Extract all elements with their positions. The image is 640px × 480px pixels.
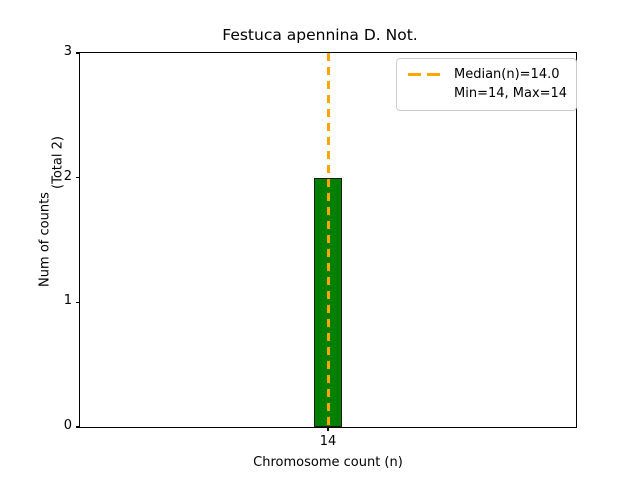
- y-tick-label: 0: [64, 418, 72, 433]
- y-tick-mark: [76, 52, 80, 53]
- legend-entry: Min=14, Max=14: [406, 84, 567, 103]
- legend-dash-segment: [408, 73, 421, 76]
- x-tick-mark: [327, 427, 328, 431]
- legend-label: Min=14, Max=14: [454, 86, 567, 101]
- legend-dash-sample: [406, 68, 444, 82]
- legend-entry: Median(n)=14.0: [406, 65, 567, 84]
- legend-dash-segment: [427, 73, 440, 76]
- x-axis-label: Chromosome count (n): [79, 455, 577, 470]
- legend-label: Median(n)=14.0: [454, 67, 560, 82]
- y-tick-mark: [76, 177, 80, 178]
- chart-title: Festuca apennina D. Not.: [0, 26, 640, 44]
- y-tick-mark: [76, 426, 80, 427]
- chart-figure: Festuca apennina D. Not. 012314 Chromoso…: [0, 0, 640, 480]
- x-tick-label: 14: [288, 434, 368, 449]
- median-line: [327, 53, 330, 427]
- chart-legend: Median(n)=14.0Min=14, Max=14: [396, 58, 577, 111]
- y-tick-mark: [76, 302, 80, 303]
- y-axis-label-total: (Total 2): [51, 0, 66, 413]
